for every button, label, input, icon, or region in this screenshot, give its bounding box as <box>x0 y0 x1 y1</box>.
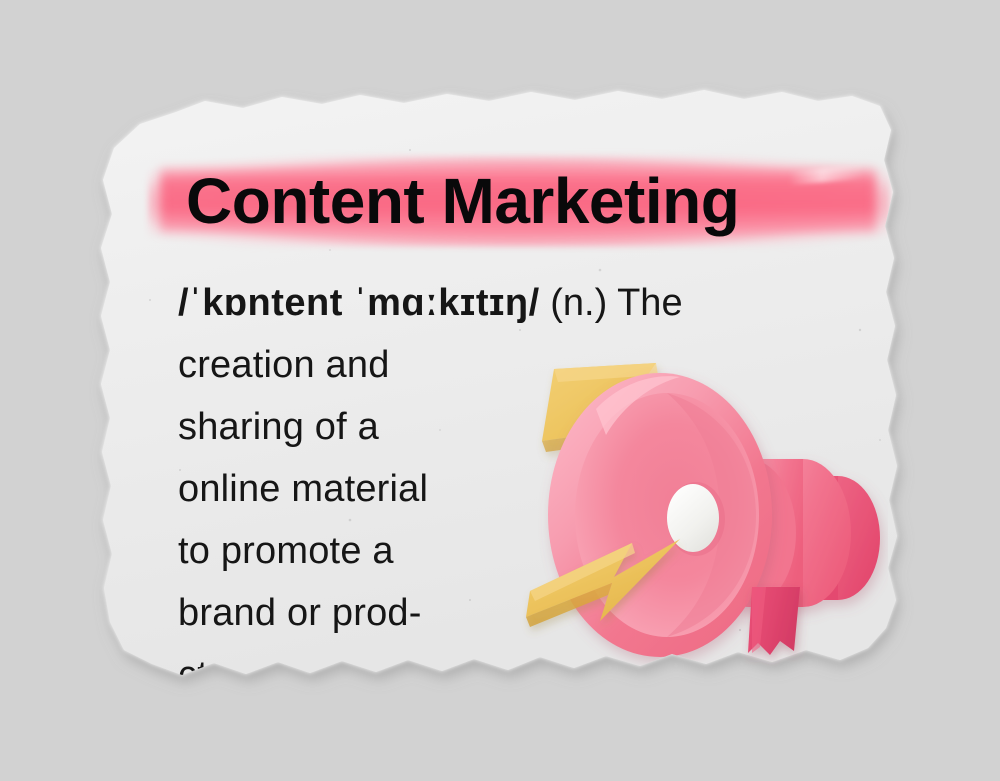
definition-line-5: brand or prod- <box>178 582 508 644</box>
dictionary-headword: Content Marketing <box>186 160 886 242</box>
definition-line-4: to promote a <box>178 520 508 582</box>
definition-line-3: online material <box>178 458 508 520</box>
megaphone-icon <box>508 355 888 675</box>
definition-line-1: creation and <box>178 334 508 396</box>
megaphone-illustration <box>508 355 888 675</box>
phonetic-transcription: /ˈkɒntent ˈmɑːkɪtɪŋ/ <box>178 282 540 324</box>
screenshot-canvas: Content Marketing /ˈkɒntent ˈmɑːkɪtɪŋ/ (… <box>0 0 1000 781</box>
phonetic-line: /ˈkɒntent ˈmɑːkɪtɪŋ/ (n.) The <box>178 272 878 334</box>
definition-line-2: sharing of a <box>178 396 508 458</box>
definition-line-0: The <box>617 282 682 324</box>
megaphone-horn <box>548 373 772 657</box>
part-of-speech: (n.) <box>550 282 607 324</box>
